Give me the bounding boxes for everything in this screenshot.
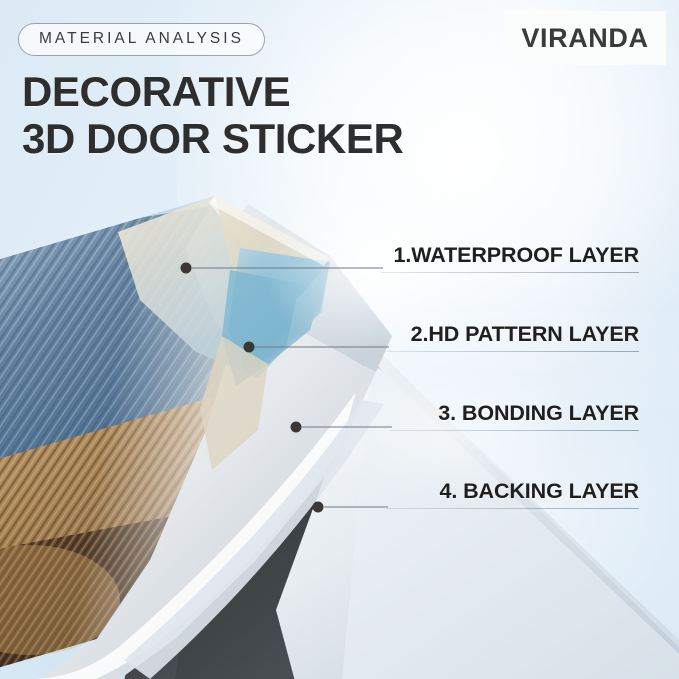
callout-text-3: 3. BONDING LAYER [438, 403, 639, 425]
callout-underline-2 [387, 351, 639, 352]
brand-logo: VIRANDA [504, 11, 666, 65]
callout-label-2: 2.HD PATTERN LAYER [387, 324, 639, 352]
callout-underline-1 [381, 272, 639, 273]
callout-dot-1 [181, 263, 192, 274]
callout-label-1: 1.WATERPROOF LAYER [381, 245, 639, 273]
product-infographic: MATERIAL ANALYSIS DECORATIVE 3D DOOR STI… [0, 0, 679, 679]
brand-name: VIRANDA [521, 25, 648, 52]
callout-label-4: 4. BACKING LAYER [386, 481, 639, 509]
callout-text-2: 2.HD PATTERN LAYER [411, 324, 639, 346]
callout-underline-4 [386, 508, 639, 509]
callout-label-3: 3. BONDING LAYER [390, 403, 639, 431]
material-analysis-badge: MATERIAL ANALYSIS [18, 23, 265, 56]
callout-text-1: 1.WATERPROOF LAYER [394, 245, 639, 267]
callout-text-4: 4. BACKING LAYER [439, 481, 639, 503]
callout-dot-4 [313, 502, 324, 513]
page-title-line2: 3D DOOR STICKER [22, 115, 403, 162]
callout-dot-2 [244, 342, 255, 353]
callout-dot-3 [291, 422, 302, 433]
callout-underline-3 [390, 430, 639, 431]
page-title: DECORATIVE 3D DOOR STICKER [22, 68, 403, 162]
page-title-line1: DECORATIVE [22, 68, 290, 115]
